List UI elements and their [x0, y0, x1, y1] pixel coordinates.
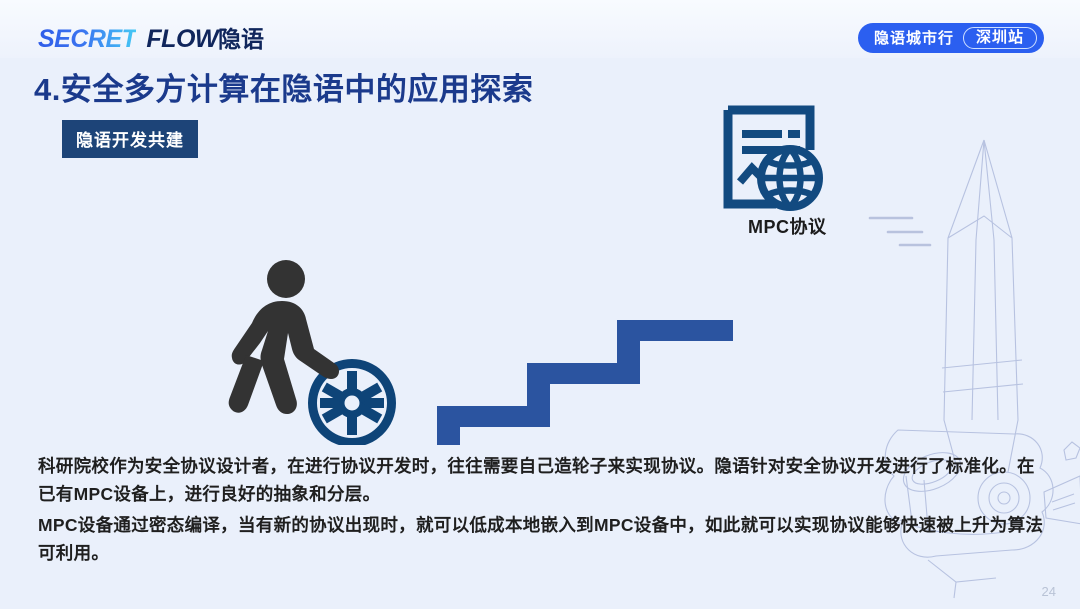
badge-city-pill: 深圳站	[963, 27, 1037, 49]
badge-main-label: 隐语城市行	[874, 31, 954, 46]
mpc-protocol-label: MPC协议	[748, 213, 827, 239]
logo-secret-text: SECRET	[38, 25, 136, 53]
document-globe-icon	[722, 104, 828, 212]
page-number: 24	[1042, 584, 1056, 599]
slide-canvas: SECRETFLOW隐语 隐语城市行 深圳站 4.安全多方计算在隐语中的应用探索…	[0, 0, 1080, 609]
logo-chinese-text: 隐语	[218, 26, 264, 52]
logo-flow-text: FLOW	[146, 25, 218, 53]
body-text-block: 科研院校作为安全协议设计者，在进行协议开发时，往往需要自己造轮子来实现协议。隐语…	[38, 452, 1048, 567]
body-paragraph-1: 科研院校作为安全协议设计者，在进行协议开发时，往往需要自己造轮子来实现协议。隐语…	[38, 452, 1048, 509]
city-tour-badge: 隐语城市行 深圳站	[858, 23, 1044, 53]
staircase-illustration	[0, 95, 1080, 445]
secretflow-logo: SECRETFLOW隐语	[38, 20, 264, 54]
body-paragraph-2: MPC设备通过密态编译，当有新的协议出现时，就可以低成本地嵌入到MPC设备中，如…	[38, 511, 1048, 568]
